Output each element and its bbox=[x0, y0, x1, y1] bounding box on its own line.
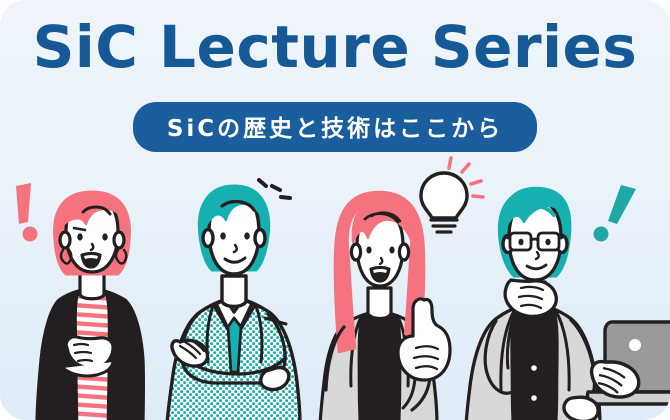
figure-teal-glasses-person bbox=[466, 188, 600, 420]
motion-marks-icon bbox=[259, 180, 290, 198]
figure-teal-suit-man bbox=[167, 186, 300, 420]
exclamation-right-icon bbox=[594, 185, 637, 242]
lightbulb-icon bbox=[421, 158, 483, 232]
subtitle-pill-container: SiCの歴史と技術はここから bbox=[0, 102, 670, 152]
sic-lecture-series-banner[interactable]: SiC Lecture Series SiCの歴史と技術はここから bbox=[0, 0, 670, 420]
figure-pink-bob-woman bbox=[37, 192, 143, 420]
figure-pink-long-hair-woman bbox=[320, 192, 450, 420]
page-title: SiC Lecture Series bbox=[0, 16, 670, 80]
subtitle-pill[interactable]: SiCの歴史と技術はここから bbox=[133, 102, 537, 152]
exclamation-left-icon bbox=[16, 183, 38, 242]
